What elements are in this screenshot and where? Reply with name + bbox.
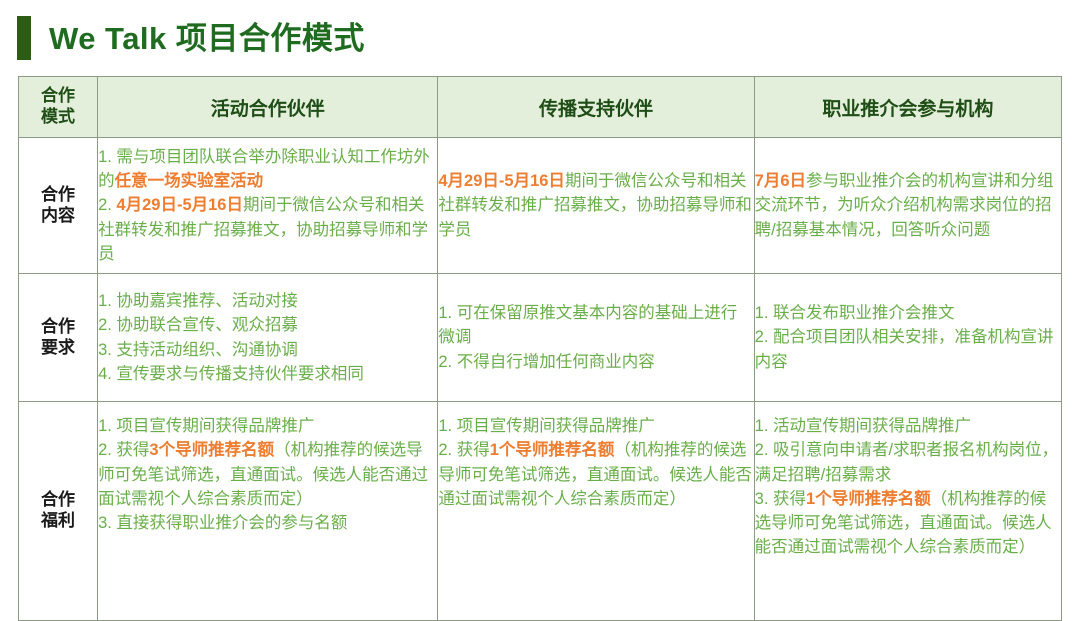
highlighted-text: 7月6日: [755, 172, 806, 190]
header-cell-col-2: 传播支持伙伴: [438, 77, 754, 138]
highlighted-text: 任意一场实验室活动: [115, 172, 264, 190]
header-label-line2: 模式: [19, 107, 97, 128]
header-label-line1: 合作: [19, 86, 97, 107]
row-label-line2: 要求: [19, 338, 97, 359]
page-title: We Talk 项目合作模式: [49, 23, 365, 54]
cell-r2-c2: 1. 活动宣传期间获得品牌推广2. 吸引意向申请者/求职者报名机构岗位，满足招聘…: [754, 402, 1061, 621]
cell-r0-c0: 1. 需与项目团队联合举办除职业认知工作坊外的任意一场实验室活动2. 4月29日…: [98, 138, 438, 274]
row-label-2: 合作 福利: [19, 402, 98, 621]
highlighted-text: 4月29日-5月16日: [116, 196, 243, 214]
highlighted-text: 3个导师推荐名额: [149, 441, 274, 459]
header-cell-col-1: 活动合作伙伴: [98, 77, 438, 138]
row-label-line2: 福利: [19, 511, 97, 532]
row-label-line2: 内容: [19, 206, 97, 227]
header-cell-col-3: 职业推介会参与机构: [754, 77, 1061, 138]
row-label-1: 合作 要求: [19, 274, 98, 402]
cell-r1-c1: 1. 可在保留原推文基本内容的基础上进行微调2. 不得自行增加任何商业内容: [438, 274, 754, 402]
cell-r0-c1: 4月29日-5月16日期间于微信公众号和相关社群转发和推广招募推文，协助招募导师…: [438, 138, 754, 274]
highlighted-text: 1个导师推荐名额: [490, 441, 615, 459]
highlighted-text: 1个导师推荐名额: [806, 490, 931, 508]
cell-r1-c2: 1. 联合发布职业推介会推文2. 配合项目团队相关安排，准备机构宣讲内容: [754, 274, 1061, 402]
row-label-line1: 合作: [19, 317, 97, 338]
header-cell-label: 合作 模式: [19, 77, 98, 138]
cell-r2-c0: 1. 项目宣传期间获得品牌推广2. 获得3个导师推荐名额（机构推荐的候选导师可免…: [98, 402, 438, 621]
cell-r0-c2: 7月6日参与职业推介会的机构宣讲和分组交流环节，为听众介绍机构需求岗位的招聘/招…: [754, 138, 1061, 274]
title-accent-bar: [17, 16, 31, 60]
page-title-bar: We Talk 项目合作模式: [0, 0, 1080, 76]
table-row: 合作 要求 1. 协助嘉宾推荐、活动对接2. 协助联合宣传、观众招募3. 支持活…: [19, 274, 1062, 402]
cell-r1-c0: 1. 协助嘉宾推荐、活动对接2. 协助联合宣传、观众招募3. 支持活动组织、沟通…: [98, 274, 438, 402]
table-row: 合作 福利 1. 项目宣传期间获得品牌推广2. 获得3个导师推荐名额（机构推荐的…: [19, 402, 1062, 621]
row-label-line1: 合作: [19, 185, 97, 206]
row-label-line1: 合作: [19, 490, 97, 511]
table-row: 合作 内容 1. 需与项目团队联合举办除职业认知工作坊外的任意一场实验室活动2.…: [19, 138, 1062, 274]
highlighted-text: 4月29日-5月16日: [438, 172, 565, 190]
row-label-0: 合作 内容: [19, 138, 98, 274]
cooperation-model-table: 合作 模式 活动合作伙伴 传播支持伙伴 职业推介会参与机构 合作 内容 1. 需…: [18, 76, 1062, 621]
table-header-row: 合作 模式 活动合作伙伴 传播支持伙伴 职业推介会参与机构: [19, 77, 1062, 138]
cell-r2-c1: 1. 项目宣传期间获得品牌推广2. 获得1个导师推荐名额（机构推荐的候选导师可免…: [438, 402, 754, 621]
